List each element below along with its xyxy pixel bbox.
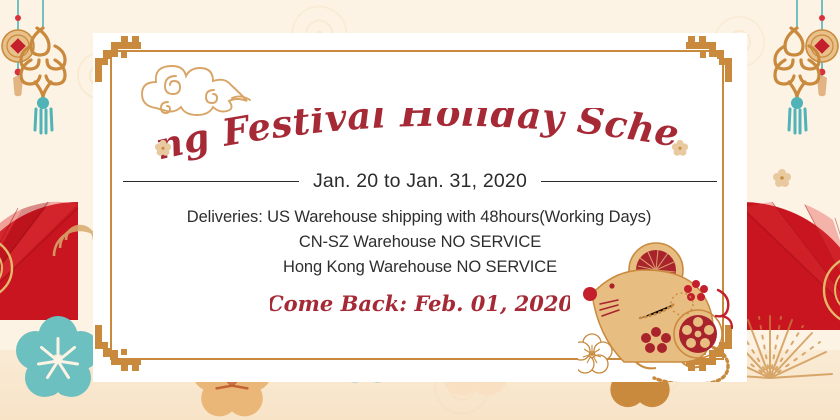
corner-meander-top-right xyxy=(686,36,732,82)
date-range-row: Jan. 20 to Jan. 31, 2020 xyxy=(0,170,840,193)
flower-accent-right-icon xyxy=(672,140,688,156)
spring-festival-banner: Spring Festival Holiday Schedule Jan. 20… xyxy=(0,0,840,420)
divider-left xyxy=(123,181,299,182)
svg-text:Spring Festival Holiday Schedu: Spring Festival Holiday Schedule xyxy=(150,108,683,168)
hanging-coin-ornament xyxy=(2,30,34,96)
hanging-coin-ornament xyxy=(806,30,838,96)
delivery-line: Deliveries: US Warehouse shipping with 4… xyxy=(0,205,840,230)
come-back-area: Come Back: Feb. 01, 2020 xyxy=(0,286,840,325)
title-area: Spring Festival Holiday Schedule xyxy=(0,108,840,170)
banner-title-text: Spring Festival Holiday Schedule xyxy=(150,108,683,168)
delivery-line: CN-SZ Warehouse NO SERVICE xyxy=(0,230,840,255)
date-range-text: Jan. 20 to Jan. 31, 2020 xyxy=(313,170,527,193)
corner-meander-bottom-left xyxy=(95,325,141,371)
flower-accent-left-icon xyxy=(155,140,171,156)
come-back-line: Come Back: Feb. 01, 2020 xyxy=(270,286,570,320)
plum-blossom-motif xyxy=(16,316,100,397)
banner-title: Spring Festival Holiday Schedule xyxy=(150,108,690,170)
delivery-info-block: Deliveries: US Warehouse shipping with 4… xyxy=(0,205,840,280)
delivery-line: Hong Kong Warehouse NO SERVICE xyxy=(0,255,840,280)
divider-right xyxy=(541,181,717,182)
come-back-text: Come Back: Feb. 01, 2020 xyxy=(270,291,570,316)
